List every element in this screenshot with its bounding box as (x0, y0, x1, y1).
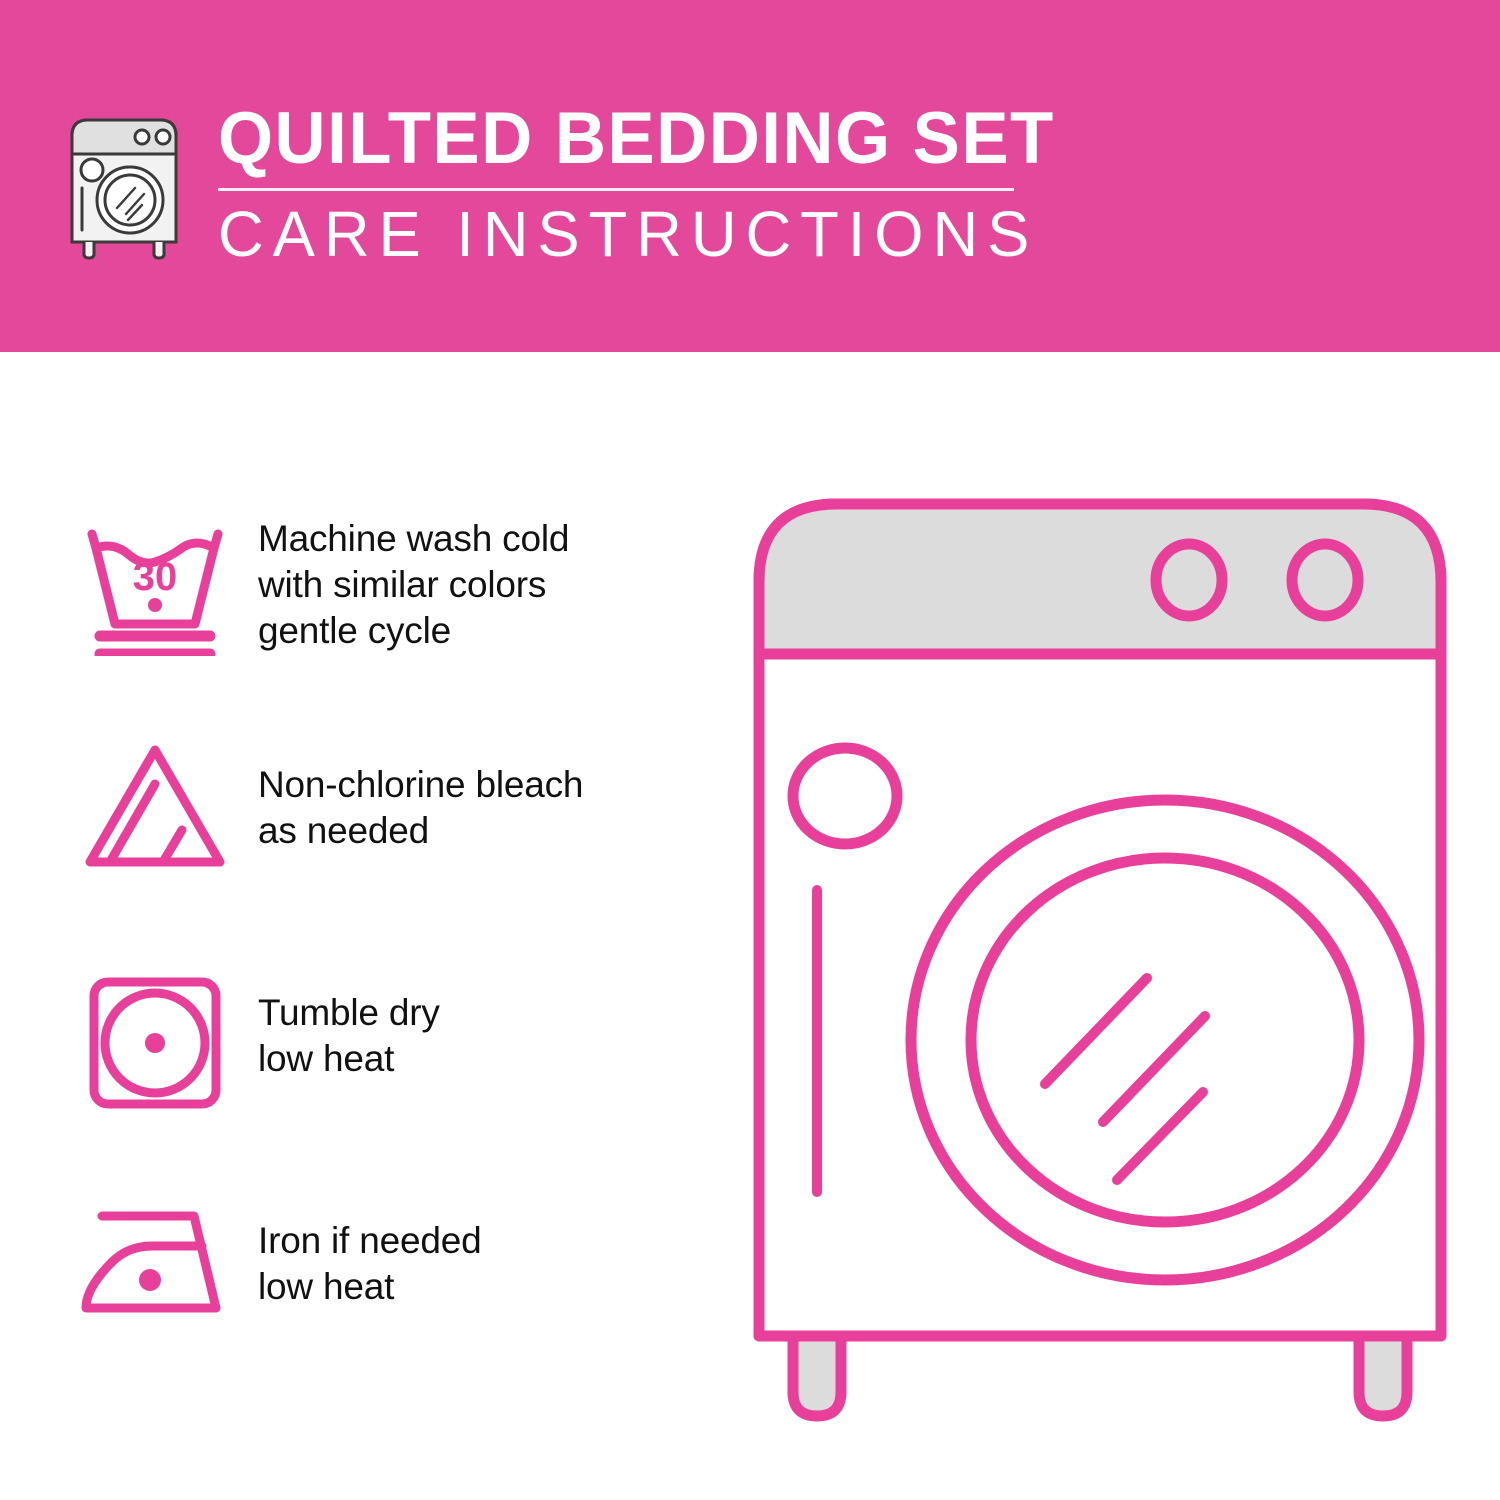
wash-temperature-label: 30 (133, 555, 178, 599)
machine-knob-left (1156, 544, 1222, 616)
title-block: QUILTED BEDDING SET CARE INSTRUCTIONS (218, 100, 1018, 269)
care-item-label: Non-chlorine bleach as needed (258, 730, 583, 854)
page-title: QUILTED BEDDING SET (218, 100, 994, 178)
care-instructions-infographic: QUILTED BEDDING SET CARE INSTRUCTIONS 30 (0, 0, 1500, 1500)
header-content: QUILTED BEDDING SET CARE INSTRUCTIONS (62, 100, 1018, 269)
care-item-tumble-dry: Tumble dry low heat (70, 960, 710, 1190)
machine-dial-icon (793, 748, 897, 844)
tumble-dry-low-symbol (70, 960, 240, 1116)
washing-machine-icon (62, 108, 186, 260)
iron-heat-dot-icon (139, 1269, 161, 1291)
care-item-label: Machine wash cold with similar colors ge… (258, 500, 569, 654)
care-item-machine-wash: 30 Machine wash cold with similar colors… (70, 500, 710, 730)
wash-dot-icon (148, 598, 162, 612)
page-subtitle: CARE INSTRUCTIONS (218, 199, 1010, 269)
care-item-label: Tumble dry low heat (258, 960, 440, 1082)
front-load-washing-machine-illustration (735, 480, 1465, 1460)
machine-knob-right (1292, 544, 1358, 616)
care-item-label: Iron if needed low heat (258, 1190, 481, 1310)
header-banner: QUILTED BEDDING SET CARE INSTRUCTIONS (0, 0, 1500, 352)
machine-wash-30-gentle-symbol: 30 (70, 500, 240, 656)
non-chlorine-bleach-symbol (70, 730, 240, 876)
care-item-iron: Iron if needed low heat (70, 1190, 710, 1420)
iron-low-heat-symbol (70, 1190, 240, 1326)
care-item-bleach: Non-chlorine bleach as needed (70, 730, 710, 960)
care-instruction-list: 30 Machine wash cold with similar colors… (70, 500, 710, 1420)
dry-heat-dot-icon (145, 1033, 165, 1053)
title-divider (218, 188, 1014, 191)
